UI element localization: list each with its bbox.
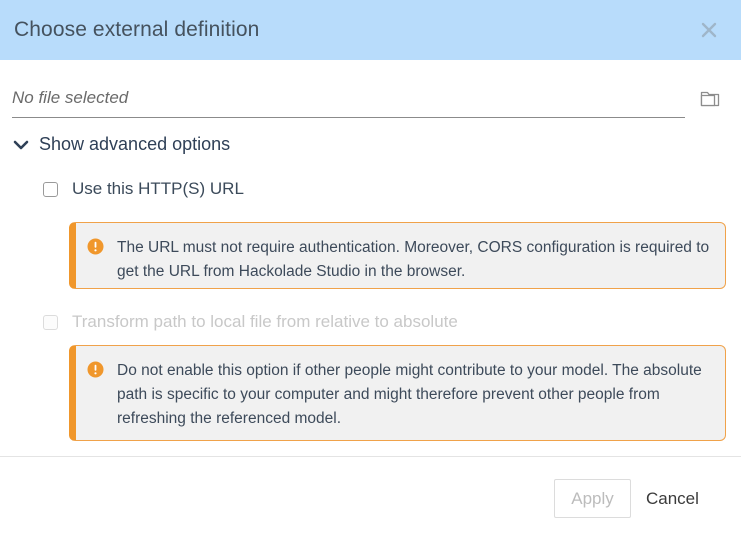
dialog-footer: Apply Cancel	[0, 456, 741, 537]
file-path-input[interactable]	[12, 82, 685, 118]
dialog-header: Choose external definition	[0, 0, 741, 60]
transform-path-label: Transform path to local file from relati…	[72, 312, 458, 332]
url-warning-text: The URL must not require authentication.…	[117, 236, 711, 284]
warning-icon	[87, 361, 104, 378]
use-http-url-label: Use this HTTP(S) URL	[72, 179, 244, 199]
chevron-down-icon	[12, 136, 30, 154]
dialog-title: Choose external definition	[14, 18, 259, 42]
transform-path-checkbox	[43, 315, 58, 330]
apply-button[interactable]: Apply	[554, 479, 631, 518]
file-selection-row	[0, 82, 741, 124]
url-warning-alert: The URL must not require authentication.…	[69, 222, 726, 289]
use-http-url-checkbox[interactable]	[43, 182, 58, 197]
use-http-url-option[interactable]: Use this HTTP(S) URL	[43, 179, 244, 199]
close-icon[interactable]	[695, 16, 723, 44]
transform-warning-text: Do not enable this option if other peopl…	[117, 359, 711, 431]
show-advanced-options-label: Show advanced options	[39, 134, 230, 155]
cancel-button[interactable]: Cancel	[646, 479, 699, 518]
dialog-body: Show advanced options Use this HTTP(S) U…	[0, 60, 741, 456]
folder-icon[interactable]	[697, 86, 723, 112]
transform-warning-alert: Do not enable this option if other peopl…	[69, 345, 726, 441]
warning-icon	[87, 238, 104, 255]
show-advanced-options-toggle[interactable]: Show advanced options	[12, 134, 230, 155]
transform-path-option: Transform path to local file from relati…	[43, 312, 458, 332]
choose-external-definition-dialog: Choose external definition	[0, 0, 741, 537]
